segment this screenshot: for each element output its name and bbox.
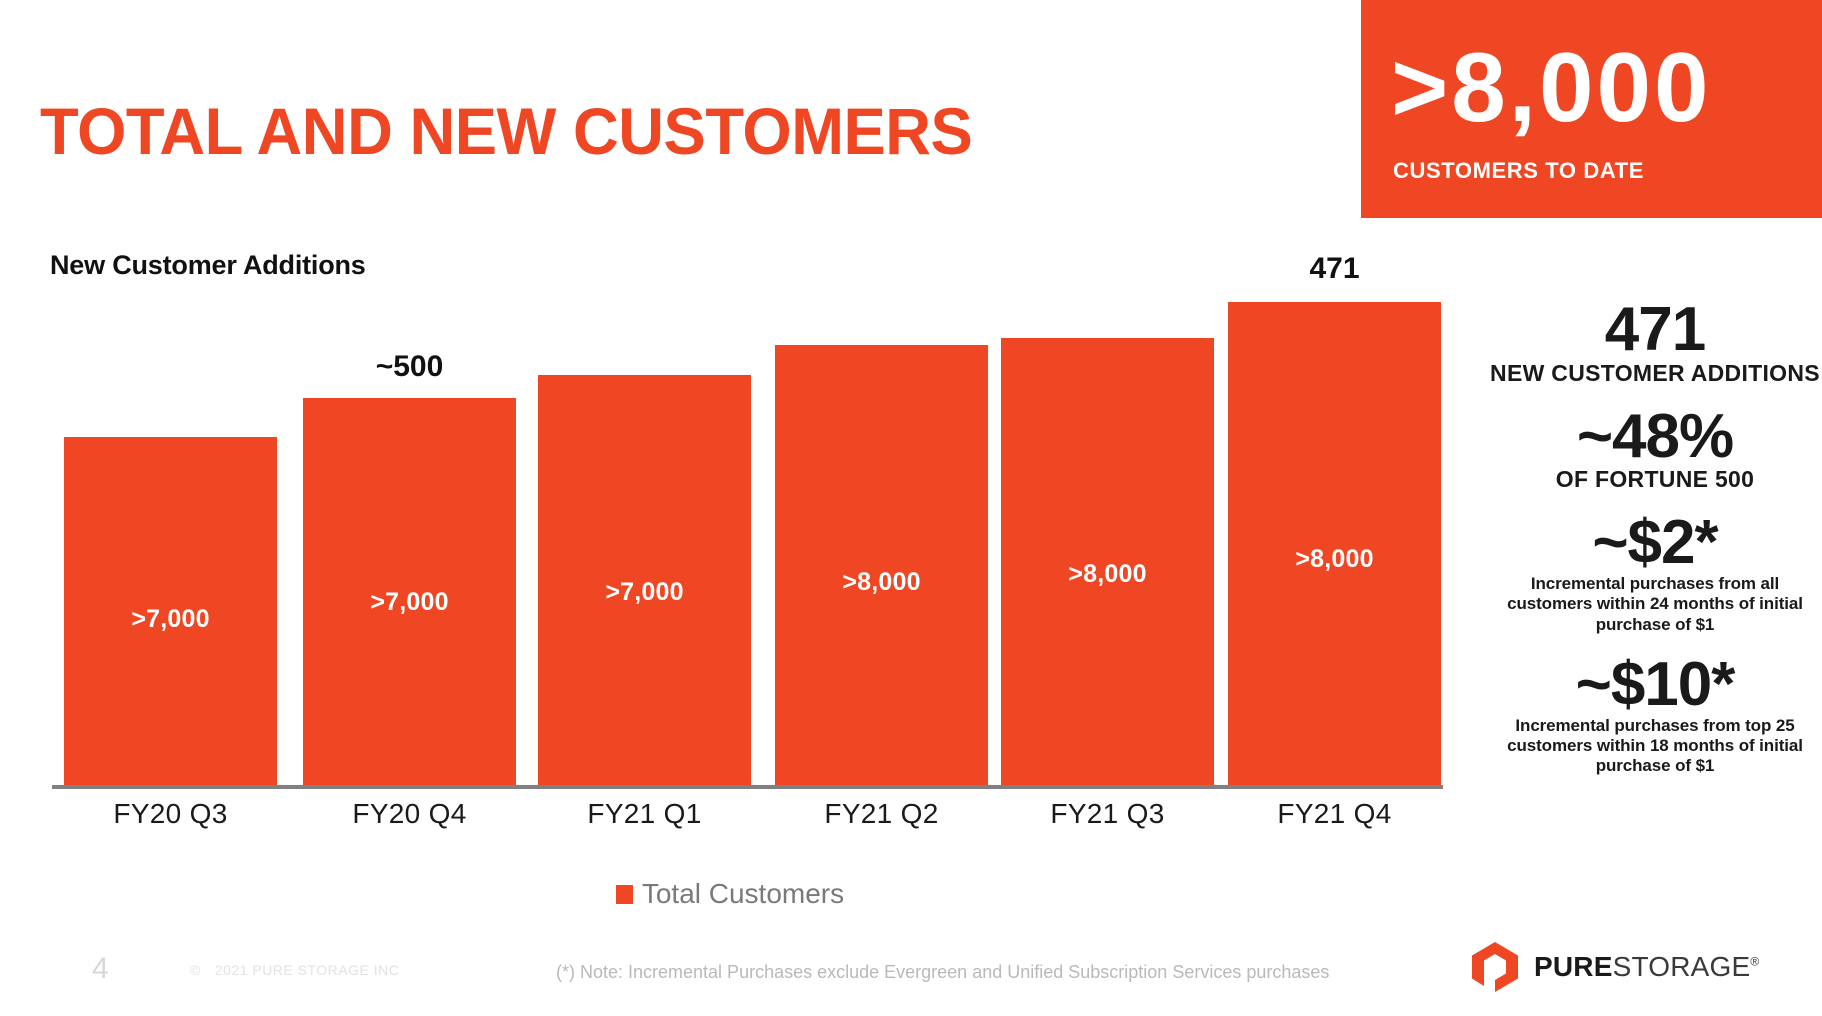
copyright-text: 2021 PURE STORAGE INC xyxy=(215,962,400,978)
bar-value-label: >7,000 xyxy=(303,588,516,617)
bar-value-label: >7,000 xyxy=(64,605,277,634)
bar: >8,000 xyxy=(1228,302,1441,787)
stat-caption: OF FORTUNE 500 xyxy=(1490,467,1820,493)
bar: >8,000 xyxy=(1001,338,1214,787)
stat-caption: Incremental purchases from top 25 custom… xyxy=(1490,716,1820,777)
stat-block: ~$2*Incremental purchases from all custo… xyxy=(1490,513,1820,635)
stat-block: ~48%OF FORTUNE 500 xyxy=(1490,407,1820,494)
chart-legend: Total Customers xyxy=(0,878,1460,910)
bar-value-label: >8,000 xyxy=(775,568,988,597)
logo-registered-mark: ® xyxy=(1750,955,1759,969)
legend-swatch xyxy=(616,885,633,904)
logo-brand-bold: PURE xyxy=(1534,951,1613,982)
bar-chart: New Customer Additions >7,000>7,000~500>… xyxy=(0,0,1460,830)
bar: >7,000 xyxy=(64,437,277,787)
stats-column: 471NEW CUSTOMER ADDITIONS~48%OF FORTUNE … xyxy=(1490,300,1820,785)
stat-block: 471NEW CUSTOMER ADDITIONS xyxy=(1490,300,1820,387)
footnote: (*) Note: Incremental Purchases exclude … xyxy=(556,962,1329,983)
stat-value: ~48% xyxy=(1490,407,1820,468)
stat-value: 471 xyxy=(1490,300,1820,361)
x-axis-tick-label: FY21 Q1 xyxy=(538,798,751,830)
x-axis-tick-label: FY21 Q2 xyxy=(775,798,988,830)
x-axis-tick-label: FY21 Q4 xyxy=(1228,798,1441,830)
logo-wordmark: PURESTORAGE® xyxy=(1534,951,1759,983)
copyright: © 2021 PURE STORAGE INC xyxy=(190,962,399,978)
bar: >7,000 xyxy=(303,398,516,787)
stat-caption: Incremental purchases from all customers… xyxy=(1490,574,1820,635)
stat-value: ~$10* xyxy=(1490,655,1820,716)
x-axis-line xyxy=(52,785,1443,789)
purestorage-logo: PURESTORAGE® xyxy=(1468,940,1759,994)
x-axis-tick-label: FY21 Q3 xyxy=(1001,798,1214,830)
copyright-symbol: © xyxy=(190,962,201,978)
bar-value-label: >8,000 xyxy=(1001,560,1214,589)
stat-caption: NEW CUSTOMER ADDITIONS xyxy=(1490,361,1820,387)
chart-series-label: New Customer Additions xyxy=(50,250,366,281)
stat-value: ~$2* xyxy=(1490,513,1820,574)
bar: >7,000 xyxy=(538,375,751,787)
x-axis-tick-label: FY20 Q4 xyxy=(303,798,516,830)
stat-block: ~$10*Incremental purchases from top 25 c… xyxy=(1490,655,1820,777)
slide-canvas: TOTAL AND NEW CUSTOMERS >8,000 CUSTOMERS… xyxy=(0,0,1822,1016)
legend-label: Total Customers xyxy=(642,878,844,910)
x-axis-tick-label: FY20 Q3 xyxy=(64,798,277,830)
pure-storage-mark-icon xyxy=(1468,940,1522,994)
bar-value-label: >8,000 xyxy=(1228,545,1441,574)
bar-top-label: ~500 xyxy=(303,350,516,384)
logo-brand-light: STORAGE xyxy=(1613,951,1751,982)
bar-top-label: 471 xyxy=(1228,252,1441,286)
bar: >8,000 xyxy=(775,345,988,787)
bar-value-label: >7,000 xyxy=(538,578,751,607)
page-number: 4 xyxy=(92,952,109,986)
